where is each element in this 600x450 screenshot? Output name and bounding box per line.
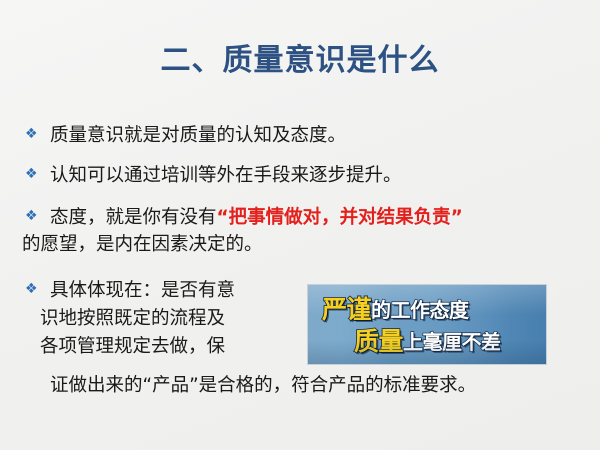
diamond-bullet-icon: ❖ — [25, 164, 38, 185]
diamond-bullet-icon: ❖ — [25, 279, 38, 300]
page-title: 二、质量意识是什么 — [0, 44, 600, 79]
bullet-4-line-4: 证做出来的“产品”是合格的，符合产品的标准要求。 — [50, 372, 476, 400]
bullet-3-highlight-text: “把事情做对，并对结果负责” — [217, 207, 463, 228]
banner-line-1: 严谨的工作态度 — [322, 297, 469, 322]
bullet-3-tail-text: 的愿望，是内在因素决定的。 — [22, 234, 263, 255]
list-item: ❖ 认知可以通过培训等外在手段来逐步提升。 — [22, 162, 578, 190]
bullet-2-text: 认知可以通过培训等外在手段来逐步提升。 — [50, 165, 402, 186]
bullet-1-text: 质量意识就是对质量的认知及态度。 — [50, 125, 346, 146]
diamond-bullet-icon: ❖ — [25, 206, 38, 227]
banner-line-2-gold: 质量 — [354, 327, 403, 356]
banner-line-2-white: 上毫厘不差 — [403, 330, 501, 354]
list-item: ❖ 态度，就是你有没有“把事情做对，并对结果负责” 的愿望，是内在因素决定的。 — [22, 204, 578, 260]
bullet-3-lead-text: 态度，就是你有没有 — [50, 207, 217, 228]
diamond-bullet-icon: ❖ — [25, 124, 38, 145]
banner-line-1-white: 的工作态度 — [371, 298, 469, 322]
list-item: ❖ 质量意识就是对质量的认知及态度。 — [22, 122, 578, 150]
quality-slogan-banner-image: 严谨的工作态度 质量上毫厘不差 — [308, 285, 546, 364]
banner-line-2: 质量上毫厘不差 — [354, 329, 501, 354]
slide-canvas: 二、质量意识是什么 ❖ 质量意识就是对质量的认知及态度。 ❖ 认知可以通过培训等… — [0, 0, 600, 450]
banner-line-1-gold: 严谨 — [322, 295, 371, 324]
